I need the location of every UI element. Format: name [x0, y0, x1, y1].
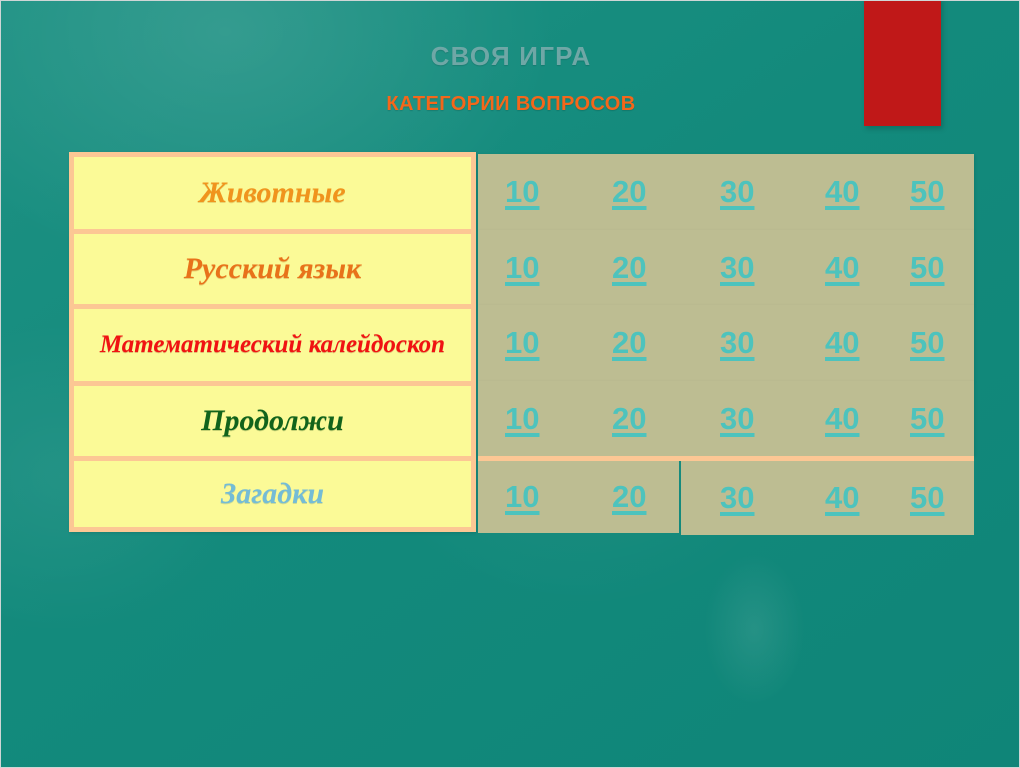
value-link-math-kaleidoscope-20[interactable]: 20 [612, 325, 646, 361]
value-link-continue-50[interactable]: 50 [910, 401, 944, 437]
category-label: Русский язык [174, 252, 372, 286]
value-link-riddles-40[interactable]: 40 [825, 480, 859, 516]
game-board: Животные Русский язык Математический кал… [69, 152, 974, 534]
value-row-continue: 10 20 30 40 50 [478, 381, 974, 456]
value-link-riddles-20[interactable]: 20 [612, 479, 646, 515]
value-row-math-kaleidoscope: 10 20 30 40 50 [478, 305, 974, 381]
category-panel: Животные Русский язык Математический кал… [69, 152, 476, 532]
value-link-riddles-10[interactable]: 10 [505, 479, 539, 515]
value-link-russian-language-30[interactable]: 30 [720, 250, 754, 286]
value-link-russian-language-50[interactable]: 50 [910, 250, 944, 286]
value-link-continue-20[interactable]: 20 [612, 401, 646, 437]
value-link-animals-50[interactable]: 50 [910, 174, 944, 210]
page-title: СВОЯ ИГРА [1, 41, 1020, 72]
value-link-russian-language-40[interactable]: 40 [825, 250, 859, 286]
category-cell-math-kaleidoscope[interactable]: Математический калейдоскоп [74, 309, 471, 381]
category-label: Животные [189, 176, 355, 210]
category-cell-continue[interactable]: Продолжи [74, 386, 471, 456]
value-link-math-kaleidoscope-50[interactable]: 50 [910, 325, 944, 361]
value-row-riddles-right: 30 40 50 [681, 461, 974, 535]
presentation-slide: СВОЯ ИГРА КАТЕГОРИИ ВОПРОСОВ Животные Ру… [0, 0, 1020, 768]
value-link-animals-30[interactable]: 30 [720, 174, 754, 210]
value-row-russian-language: 10 20 30 40 50 [478, 230, 974, 305]
value-link-russian-language-20[interactable]: 20 [612, 250, 646, 286]
category-label: Продолжи [191, 404, 354, 438]
category-cell-riddles[interactable]: Загадки [74, 461, 471, 527]
category-label: Математический калейдоскоп [90, 331, 455, 359]
value-link-continue-40[interactable]: 40 [825, 401, 859, 437]
value-link-riddles-50[interactable]: 50 [910, 480, 944, 516]
page-subtitle: КАТЕГОРИИ ВОПРОСОВ [1, 93, 1020, 116]
value-row-animals: 10 20 30 40 50 [478, 154, 974, 230]
value-row-riddles-left: 10 20 [478, 461, 679, 533]
value-link-animals-10[interactable]: 10 [505, 174, 539, 210]
category-cell-animals[interactable]: Животные [74, 157, 471, 229]
value-link-animals-20[interactable]: 20 [612, 174, 646, 210]
values-panel: 10 20 30 40 50 10 20 30 40 50 10 20 30 4… [478, 154, 974, 532]
value-link-math-kaleidoscope-30[interactable]: 30 [720, 325, 754, 361]
value-link-continue-30[interactable]: 30 [720, 401, 754, 437]
value-link-russian-language-10[interactable]: 10 [505, 250, 539, 286]
value-link-math-kaleidoscope-40[interactable]: 40 [825, 325, 859, 361]
category-cell-russian-language[interactable]: Русский язык [74, 234, 471, 304]
value-link-math-kaleidoscope-10[interactable]: 10 [505, 325, 539, 361]
category-label: Загадки [211, 477, 334, 511]
value-link-animals-40[interactable]: 40 [825, 174, 859, 210]
value-link-continue-10[interactable]: 10 [505, 401, 539, 437]
value-link-riddles-30[interactable]: 30 [720, 480, 754, 516]
